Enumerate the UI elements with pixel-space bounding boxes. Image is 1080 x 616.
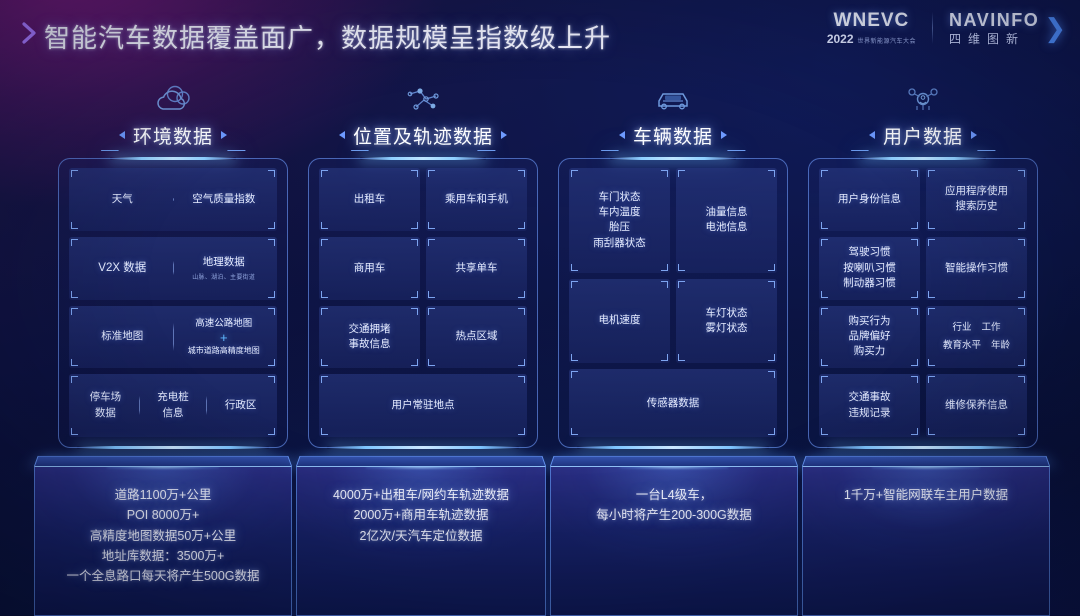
cell-label: 交通拥堵 <box>349 322 391 337</box>
stat-line: 1千万+智能网联车主用户数据 <box>817 485 1035 505</box>
pedestal-vehicle: 一台L4级车， 每小时将产生200-300G数据 <box>550 452 798 616</box>
summary-pedestals: 道路1100万+公里 POI 8000万+ 高精度地图数据50万+公里 地址库数… <box>0 452 1080 616</box>
column-frame: 天气 空气质量指数 V2X 数据 <box>58 158 288 448</box>
cell-label: 按喇叭习惯 <box>843 261 896 276</box>
frame-bottom-glow <box>327 446 519 449</box>
cell-label: 停车场 数据 <box>90 390 122 420</box>
cell-label: 城市道路高精度地图 <box>188 345 260 357</box>
title-tick-left <box>619 131 625 139</box>
title-tick-left <box>119 131 125 139</box>
column-environment: 环境数据 天气 空气质量指数 <box>58 82 288 448</box>
cell-label: 电机速度 <box>599 313 641 328</box>
data-cell[interactable]: 应用程序使用 搜索历史 <box>926 168 1027 231</box>
pedestal-user: 1千万+智能网联车主用户数据 <box>802 452 1050 616</box>
pedestal-top-face <box>34 456 292 466</box>
title-tick-left <box>869 131 875 139</box>
pedestal-top-face <box>550 456 798 466</box>
frame-bottom-glow <box>827 446 1019 449</box>
cell-label: 智能操作习惯 <box>945 261 1008 276</box>
pedestal-body: 4000万+出租车/网约车轨迹数据 2000万+商用车轨迹数据 2亿次/天汽车定… <box>296 466 546 616</box>
logo-group: WNEVC 2022 世界新能源汽车大会 NAVINFO 四维图新 ❯ <box>827 11 1066 45</box>
data-cell[interactable]: 驾驶习惯 按喇叭习惯 制动器习惯 <box>819 237 920 300</box>
cell-label: 制动器习惯 <box>843 276 896 291</box>
chevron-right-icon <box>22 22 38 44</box>
stat-line: 一个全息路口每天将产生500G数据 <box>49 566 277 586</box>
logo-divider <box>932 12 933 44</box>
cell-label: 油量信息 <box>706 205 748 220</box>
stat-line: 2000万+商用车轨迹数据 <box>311 505 531 525</box>
cell-label: 用户常驻地点 <box>392 398 455 413</box>
cell-label: 车内温度 <box>599 205 641 220</box>
data-cell[interactable]: 热点区域 <box>426 306 527 369</box>
column-title: 车辆数据 <box>633 122 713 149</box>
wnevc-year: 2022 <box>827 33 854 45</box>
cell-label: 驾驶习惯 <box>849 245 891 260</box>
slide-canvas: 智能汽车数据覆盖面广，数据规模呈指数级上升 WNEVC 2022 世界新能源汽车… <box>0 0 1080 616</box>
pedestal-top-face <box>296 456 546 466</box>
cell-label: 乘用车和手机 <box>445 192 508 207</box>
cell-label: 工作 <box>982 321 1001 335</box>
cloud-icon <box>58 82 288 118</box>
cell-label: 电池信息 <box>706 220 748 235</box>
navinfo-arrow-icon: ❯ <box>1044 15 1066 41</box>
column-title: 用户数据 <box>883 122 963 149</box>
cell-label: 购买力 <box>854 344 886 359</box>
pedestal-environment: 道路1100万+公里 POI 8000万+ 高精度地图数据50万+公里 地址库数… <box>34 452 292 616</box>
cell-label: 行业 <box>952 321 971 335</box>
page-title: 智能汽车数据覆盖面广，数据规模呈指数级上升 <box>44 18 611 55</box>
data-cell[interactable]: 油量信息 电池信息 <box>676 168 777 273</box>
cell-sublabel: 山脉、湖泊、主要街道 <box>192 272 255 281</box>
navinfo-logo-text: NAVINFO <box>949 11 1039 29</box>
data-columns: 环境数据 天气 空气质量指数 <box>0 82 1080 462</box>
data-cell[interactable]: 车门状态 车内温度 胎压 雨刮器状态 <box>569 168 670 273</box>
data-cell[interactable]: 维修保养信息 <box>926 374 1027 437</box>
data-cell[interactable]: V2X 数据 地理数据 山脉、湖泊、主要街道 <box>69 237 277 300</box>
navinfo-subtitle: 四维图新 <box>949 33 1039 45</box>
data-cell[interactable]: 停车场 数据 充电桩 信息 行政区 <box>69 374 277 437</box>
frame-notch <box>348 150 498 166</box>
column-frame: 出租车 乘用车和手机 商用车 <box>308 158 538 448</box>
data-cell[interactable]: 标准地图 高速公路地图 + 城市道路高精度地图 <box>69 306 277 369</box>
cell-label: 品牌偏好 <box>849 329 891 344</box>
stat-line: 道路1100万+公里 <box>49 485 277 505</box>
cell-label: 传感器数据 <box>647 396 700 411</box>
stat-line: 每小时将产生200-300G数据 <box>565 505 783 525</box>
cell-label: 高速公路地图 <box>195 317 252 331</box>
title-tick-right <box>971 131 977 139</box>
cell-label: 行政区 <box>225 398 257 413</box>
pedestal-stats: 1千万+智能网联车主用户数据 <box>803 467 1049 505</box>
navinfo-logo: NAVINFO 四维图新 ❯ <box>949 11 1066 45</box>
stat-line: 一台L4级车， <box>565 485 783 505</box>
cell-label: 购买行为 <box>849 314 891 329</box>
pedestal-body: 道路1100万+公里 POI 8000万+ 高精度地图数据50万+公里 地址库数… <box>34 466 292 616</box>
cell-label: 商用车 <box>354 261 386 276</box>
cell-label: 地理数据 <box>203 255 245 270</box>
route-node-icon <box>308 82 538 118</box>
cell-label: 热点区域 <box>456 329 498 344</box>
pedestal-location-trajectory: 4000万+出租车/网约车轨迹数据 2000万+商用车轨迹数据 2亿次/天汽车定… <box>296 452 546 616</box>
column-vehicle: 车辆数据 车门状态 车内温度 胎压 雨刮器状态 <box>558 82 788 448</box>
wnevc-subtitle: 世界新能源汽车大会 <box>858 39 917 45</box>
data-cell[interactable]: 共享单车 <box>426 237 527 300</box>
stat-line: 地址库数据：3500万+ <box>49 546 277 566</box>
frame-notch <box>598 150 748 166</box>
cell-label: 违规记录 <box>849 406 891 421</box>
cell-label: 事故信息 <box>349 337 391 352</box>
pedestal-stats: 一台L4级车， 每小时将产生200-300G数据 <box>551 467 797 526</box>
stat-line: 2亿次/天汽车定位数据 <box>311 526 531 546</box>
data-cell[interactable]: 购买行为 品牌偏好 购买力 <box>819 306 920 369</box>
cell-label: 胎压 <box>609 220 630 235</box>
data-cell[interactable]: 用户身份信息 <box>819 168 920 231</box>
cell-label: 雾灯状态 <box>706 321 748 336</box>
pedestal-top-face <box>802 456 1050 466</box>
cell-label: 车灯状态 <box>706 306 748 321</box>
column-location-trajectory: 位置及轨迹数据 出租车 乘用车和手机 <box>308 82 538 448</box>
cell-label: 天气 <box>112 192 133 207</box>
cell-label: 雨刮器状态 <box>593 236 646 251</box>
data-cell[interactable]: 交通拥堵 事故信息 <box>319 306 420 369</box>
frame-bottom-glow <box>577 446 769 449</box>
cell-label: V2X 数据 <box>98 260 146 277</box>
stat-line: 高精度地图数据50万+公里 <box>49 526 277 546</box>
pedestal-body: 一台L4级车， 每小时将产生200-300G数据 <box>550 466 798 616</box>
data-cell[interactable]: 传感器数据 <box>569 369 777 437</box>
frame-notch <box>98 150 248 166</box>
cell-label: 用户身份信息 <box>838 192 901 207</box>
cell-label: 维修保养信息 <box>945 398 1008 413</box>
data-cell[interactable]: 车灯状态 雾灯状态 <box>676 279 777 364</box>
data-cell[interactable]: 出租车 <box>319 168 420 231</box>
cell-label: 充电桩 信息 <box>157 390 189 420</box>
column-frame: 车门状态 车内温度 胎压 雨刮器状态 油量信息 电池信息 <box>558 158 788 448</box>
data-cell[interactable]: 电机速度 <box>569 279 670 364</box>
data-cell[interactable]: 智能操作习惯 <box>926 237 1027 300</box>
data-cell[interactable]: 行业 工作 教育水平 年龄 <box>926 306 1027 369</box>
stat-line: POI 8000万+ <box>49 505 277 525</box>
column-title: 环境数据 <box>133 122 213 149</box>
data-cell[interactable]: 乘用车和手机 <box>426 168 527 231</box>
cell-label: 共享单车 <box>456 261 498 276</box>
pedestal-stats: 道路1100万+公里 POI 8000万+ 高精度地图数据50万+公里 地址库数… <box>35 467 291 586</box>
cell-label: 应用程序使用 <box>945 184 1008 199</box>
title-tick-right <box>721 131 727 139</box>
stat-line: 4000万+出租车/网约车轨迹数据 <box>311 485 531 505</box>
frame-notch <box>848 150 998 166</box>
title-tick-right <box>221 131 227 139</box>
data-cell[interactable]: 用户常驻地点 <box>319 374 527 437</box>
title-tick-left <box>339 131 345 139</box>
data-cell[interactable]: 商用车 <box>319 237 420 300</box>
cell-label: 车门状态 <box>599 190 641 205</box>
cell-label: 年龄 <box>991 339 1010 353</box>
user-network-icon <box>808 82 1038 118</box>
cell-label: 空气质量指数 <box>192 192 255 207</box>
frame-bottom-glow <box>77 446 269 449</box>
cell-label: 标准地图 <box>101 329 143 344</box>
wnevc-logo-text: WNEVC <box>834 11 910 30</box>
data-cell[interactable]: 交通事故 违规记录 <box>819 374 920 437</box>
slide-header: 智能汽车数据覆盖面广，数据规模呈指数级上升 WNEVC 2022 世界新能源汽车… <box>0 0 1080 68</box>
pedestal-stats: 4000万+出租车/网约车轨迹数据 2000万+商用车轨迹数据 2亿次/天汽车定… <box>297 467 545 546</box>
data-cell[interactable]: 天气 空气质量指数 <box>69 168 277 231</box>
column-title: 位置及轨迹数据 <box>353 122 493 149</box>
cell-label: 出租车 <box>354 192 386 207</box>
column-frame: 用户身份信息 应用程序使用 搜索历史 驾驶习惯 按喇叭习惯 <box>808 158 1038 448</box>
title-tick-right <box>501 131 507 139</box>
plus-icon: + <box>220 331 228 344</box>
cell-label: 教育水平 <box>943 339 981 353</box>
column-user: 用户数据 用户身份信息 应用程序使用 <box>808 82 1038 448</box>
wnevc-logo: WNEVC 2022 世界新能源汽车大会 <box>827 11 916 45</box>
pedestal-body: 1千万+智能网联车主用户数据 <box>802 466 1050 616</box>
cell-label: 交通事故 <box>849 390 891 405</box>
car-icon <box>558 82 788 118</box>
cell-label: 搜索历史 <box>956 199 998 214</box>
